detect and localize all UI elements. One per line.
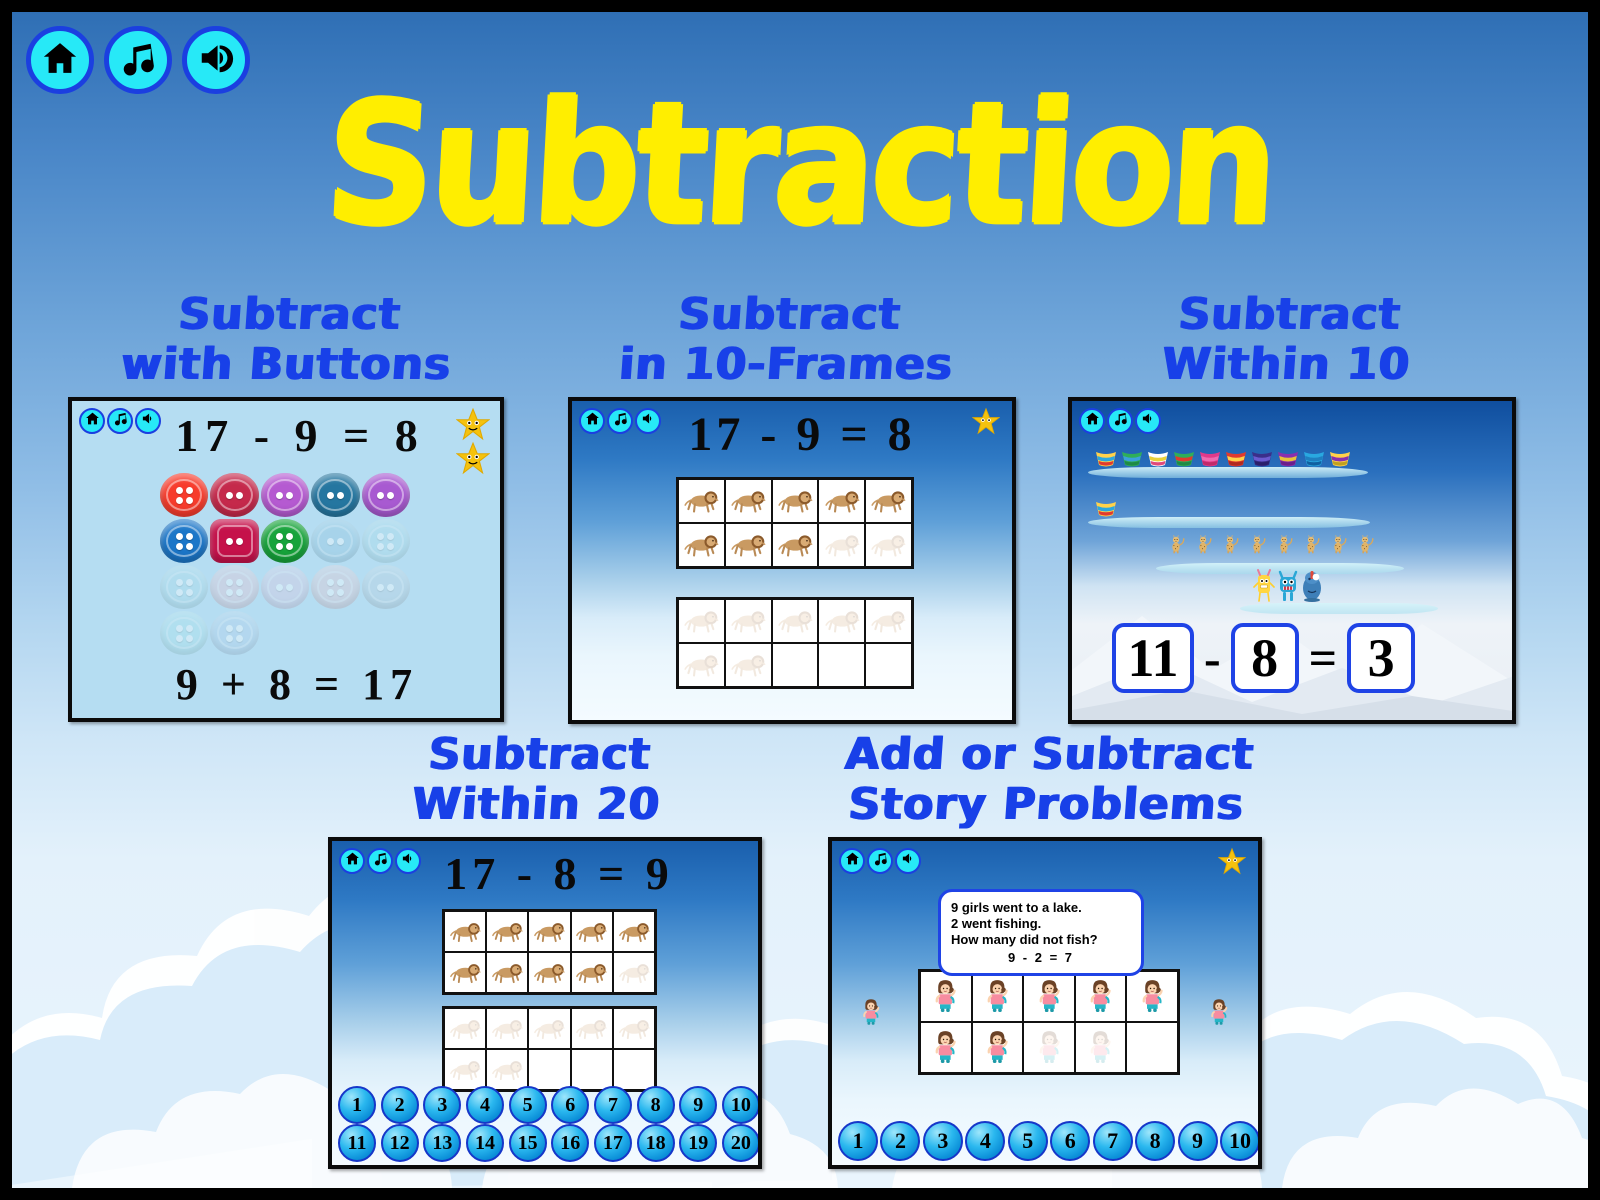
- sound-button[interactable]: [635, 408, 661, 434]
- ten-frame-cell[interactable]: [772, 523, 819, 567]
- ten-frame-cell[interactable]: [725, 523, 772, 567]
- side-character-left: [854, 986, 888, 1038]
- button-chip[interactable]: [160, 473, 208, 517]
- button-chip[interactable]: [160, 519, 208, 563]
- reward-star: [972, 407, 1000, 435]
- title-line-1: Subtract: [568, 290, 1011, 340]
- title-line-1: Add or Subtract: [808, 730, 1291, 780]
- shelf-item-cheetah[interactable]: [1326, 525, 1351, 563]
- home-button[interactable]: [339, 848, 365, 874]
- title-line-2: in 10-Frames: [565, 340, 1008, 390]
- shelf-item-basket[interactable]: [1198, 447, 1222, 467]
- ten-frame-cell[interactable]: [818, 599, 865, 643]
- number-token-17[interactable]: 17: [594, 1124, 632, 1162]
- shelf-item-basket[interactable]: [1120, 447, 1144, 467]
- button-chip[interactable]: [311, 565, 359, 609]
- story-equation: 9 - 2 = 7: [951, 950, 1131, 965]
- shelf-item-monster[interactable]: [1276, 569, 1300, 603]
- number-token-6[interactable]: 6: [1050, 1121, 1090, 1161]
- button-chip[interactable]: [160, 611, 208, 655]
- title-line-1: Subtract: [318, 730, 761, 780]
- ten-frame-cell[interactable]: [486, 1008, 528, 1049]
- sound-button[interactable]: [1135, 408, 1161, 434]
- title-line-1: Subtract: [68, 290, 511, 340]
- sound-button[interactable]: [895, 848, 921, 874]
- number-token-11[interactable]: 11: [338, 1124, 376, 1162]
- answer-box-minuend[interactable]: 11: [1112, 623, 1194, 693]
- home-button[interactable]: [26, 26, 94, 94]
- home-button[interactable]: [79, 408, 105, 434]
- ten-frame-cell[interactable]: [1075, 1022, 1127, 1073]
- ten-frame-cell[interactable]: [613, 911, 655, 952]
- button-chip: [261, 611, 309, 655]
- ten-frame-cell[interactable]: [613, 1008, 655, 1049]
- card-toolbar: [1079, 408, 1161, 434]
- card-subtract-within-10[interactable]: 11 - 8 = 3: [1068, 397, 1516, 724]
- reward-star: [456, 441, 490, 475]
- number-token-1[interactable]: 1: [838, 1121, 878, 1161]
- number-token-5[interactable]: 5: [1008, 1121, 1048, 1161]
- card-title-subtract-within-20: Subtract Within 20: [315, 730, 762, 830]
- sound-button[interactable]: [182, 26, 250, 94]
- button-chip: [362, 611, 410, 655]
- speaker-icon: [641, 411, 656, 431]
- card-title-subtract-within-10: Subtract Within 10: [1065, 290, 1512, 390]
- ten-frame-cell[interactable]: [571, 911, 613, 952]
- ten-frame-cell[interactable]: [571, 1008, 613, 1049]
- equation-bottom: 9 + 8 = 17: [72, 659, 500, 710]
- ten-frame-cell[interactable]: [865, 479, 912, 523]
- music-note-icon: [119, 39, 157, 82]
- ten-frame-cell[interactable]: [486, 1049, 528, 1090]
- button-chip[interactable]: [160, 565, 208, 609]
- card-toolbar: [579, 408, 661, 434]
- shelf-items-monsters[interactable]: [1252, 561, 1330, 603]
- shelf-item-cheetah[interactable]: [1218, 525, 1243, 563]
- number-token-16[interactable]: 16: [551, 1124, 589, 1162]
- shelf-items-baskets-top[interactable]: [1094, 443, 1366, 467]
- number-token-15[interactable]: 15: [509, 1124, 547, 1162]
- card-subtract-with-buttons[interactable]: 17 - 9 = 8 9 + 8 = 17: [68, 397, 504, 722]
- number-token-10[interactable]: 10: [722, 1086, 760, 1124]
- answer-box-result[interactable]: 3: [1347, 623, 1415, 693]
- shelf-item-basket[interactable]: [1172, 447, 1196, 467]
- ten-frame-cell[interactable]: [920, 971, 972, 1022]
- home-icon: [345, 851, 360, 871]
- ten-frame-cell[interactable]: [528, 1049, 570, 1090]
- ten-frame-cell[interactable]: [818, 523, 865, 567]
- number-token-2[interactable]: 2: [381, 1086, 419, 1124]
- page-title: Subtraction: [12, 81, 1588, 249]
- shelf-item-monster[interactable]: [1252, 569, 1276, 603]
- shelf: [1240, 603, 1438, 614]
- number-token-8[interactable]: 8: [637, 1086, 675, 1124]
- ten-frame-cell[interactable]: [678, 523, 725, 567]
- button-chip[interactable]: [311, 519, 359, 563]
- answer-equation[interactable]: 11 - 8 = 3: [1112, 623, 1415, 693]
- ten-frame-cell[interactable]: [571, 952, 613, 993]
- button-chip[interactable]: [261, 519, 309, 563]
- answer-box-subtrahend[interactable]: 8: [1231, 623, 1299, 693]
- ten-frame-cell[interactable]: [772, 643, 819, 687]
- home-icon: [85, 411, 100, 431]
- shelf-item-cheetah[interactable]: [1299, 525, 1324, 563]
- ten-frame-cell[interactable]: [486, 952, 528, 993]
- ten-frame-cell[interactable]: [725, 479, 772, 523]
- ten-frame-cell[interactable]: [678, 599, 725, 643]
- shelf-item-basket[interactable]: [1328, 447, 1352, 467]
- ten-frame-cell[interactable]: [444, 952, 486, 993]
- ten-frame-cell[interactable]: [920, 1022, 972, 1073]
- ten-frame-cell[interactable]: [772, 479, 819, 523]
- ten-frame-cell[interactable]: [613, 952, 655, 993]
- music-button[interactable]: [107, 408, 133, 434]
- number-token-4[interactable]: 4: [965, 1121, 1005, 1161]
- title-line-2: Within 20: [315, 780, 758, 830]
- number-token-8[interactable]: 8: [1135, 1121, 1175, 1161]
- home-button[interactable]: [839, 848, 865, 874]
- home-icon: [585, 411, 600, 431]
- number-token-19[interactable]: 19: [679, 1124, 717, 1162]
- button-chip[interactable]: [362, 519, 410, 563]
- music-button[interactable]: [607, 408, 633, 434]
- music-button[interactable]: [367, 848, 393, 874]
- home-icon: [845, 851, 860, 871]
- card-toolbar: [839, 848, 921, 874]
- number-token-18[interactable]: 18: [637, 1124, 675, 1162]
- story-line-1: 9 girls went to a lake.: [951, 900, 1131, 916]
- ten-frame-cell[interactable]: [772, 599, 819, 643]
- music-button[interactable]: [1107, 408, 1133, 434]
- shelf-item-cheetah[interactable]: [1245, 525, 1270, 563]
- speaker-icon: [141, 411, 156, 431]
- number-token-14[interactable]: 14: [466, 1124, 504, 1162]
- buttons-grid[interactable]: [160, 473, 410, 655]
- ten-frame-cell[interactable]: [1023, 1022, 1075, 1073]
- number-token-7[interactable]: 7: [594, 1086, 632, 1124]
- card-toolbar: [339, 848, 421, 874]
- reward-star: [1218, 847, 1246, 875]
- ten-frame-cell[interactable]: [571, 1049, 613, 1090]
- number-token-2[interactable]: 2: [880, 1121, 920, 1161]
- title-line-2: with Buttons: [65, 340, 508, 390]
- card-title-add-or-subtract-story-problems: Add or Subtract Story Problems: [805, 730, 1292, 830]
- home-icon: [1085, 411, 1100, 431]
- ten-frame-cell[interactable]: [528, 952, 570, 993]
- shelf-item-basket[interactable]: [1094, 497, 1118, 517]
- app-stage: Subtraction Subtract with Buttons 17 - 9…: [12, 12, 1588, 1188]
- sound-button[interactable]: [395, 848, 421, 874]
- button-chip[interactable]: [311, 473, 359, 517]
- music-note-icon: [613, 411, 628, 431]
- number-token-5[interactable]: 5: [509, 1086, 547, 1124]
- music-note-icon: [1113, 411, 1128, 431]
- number-token-7[interactable]: 7: [1093, 1121, 1133, 1161]
- number-token-1[interactable]: 1: [338, 1086, 376, 1124]
- card-toolbar: [79, 408, 161, 434]
- number-token-4[interactable]: 4: [466, 1086, 504, 1124]
- number-tokens-row-2[interactable]: 11121314151617181920: [336, 1124, 762, 1162]
- card-subtract-in-10-frames[interactable]: 17 - 9 = 8: [568, 397, 1016, 724]
- ten-frame-cell[interactable]: [818, 643, 865, 687]
- ten-frame-cell[interactable]: [725, 599, 772, 643]
- number-token-13[interactable]: 13: [423, 1124, 461, 1162]
- operator-minus: -: [1204, 629, 1221, 687]
- button-chip[interactable]: [261, 473, 309, 517]
- card-subtract-within-20[interactable]: 17 - 8 = 9: [328, 837, 762, 1169]
- shelf-item-cheetah[interactable]: [1191, 525, 1216, 563]
- title-line-1: Subtract: [1068, 290, 1511, 340]
- shelf-item-basket[interactable]: [1146, 447, 1170, 467]
- ten-frame-one[interactable]: [676, 477, 914, 569]
- ten-frame-cell[interactable]: [444, 1008, 486, 1049]
- music-button[interactable]: [104, 26, 172, 94]
- global-toolbar: [26, 26, 250, 94]
- shelf-item-basket[interactable]: [1094, 447, 1118, 467]
- music-note-icon: [113, 411, 128, 431]
- button-chip[interactable]: [362, 565, 410, 609]
- ten-frame-cell[interactable]: [678, 643, 725, 687]
- button-chip[interactable]: [210, 565, 258, 609]
- ten-frame-cell[interactable]: [1126, 1022, 1178, 1073]
- number-token-9[interactable]: 9: [1178, 1121, 1218, 1161]
- ten-frame-cell[interactable]: [486, 911, 528, 952]
- speaker-icon: [197, 39, 235, 82]
- speaker-icon: [901, 851, 916, 871]
- home-button[interactable]: [1079, 408, 1105, 434]
- speaker-icon: [401, 851, 416, 871]
- title-line-2: Within 10: [1065, 340, 1508, 390]
- music-note-icon: [873, 851, 888, 871]
- shelf-item-basket[interactable]: [1302, 447, 1326, 467]
- ten-frame-cell[interactable]: [865, 599, 912, 643]
- title-line-2: Story Problems: [805, 780, 1288, 830]
- shelf-item-basket[interactable]: [1224, 447, 1248, 467]
- ten-frame-cell[interactable]: [528, 1008, 570, 1049]
- number-token-3[interactable]: 3: [423, 1086, 461, 1124]
- button-chip[interactable]: [261, 565, 309, 609]
- ten-frame-cell[interactable]: [444, 1049, 486, 1090]
- ten-frame-cell[interactable]: [1075, 971, 1127, 1022]
- ten-frame-cell[interactable]: [613, 1049, 655, 1090]
- sound-button[interactable]: [135, 408, 161, 434]
- card-add-or-subtract-story-problems[interactable]: 9 girls went to a lake. 2 went fishing. …: [828, 837, 1262, 1169]
- reward-star: [456, 407, 490, 441]
- ten-frame-one[interactable]: [918, 969, 1180, 1075]
- button-chip[interactable]: [210, 611, 258, 655]
- side-character-right: [1202, 986, 1236, 1038]
- music-button[interactable]: [867, 848, 893, 874]
- home-icon: [41, 39, 79, 82]
- ten-frame-two[interactable]: [442, 1006, 657, 1092]
- music-note-icon: [373, 851, 388, 871]
- ten-frame-cell[interactable]: [725, 643, 772, 687]
- ten-frame-cell[interactable]: [678, 479, 725, 523]
- shelf-item-monster[interactable]: [1300, 569, 1324, 603]
- shelf-item-cheetah[interactable]: [1353, 525, 1378, 563]
- button-chip[interactable]: [362, 473, 410, 517]
- ten-frame-cell[interactable]: [865, 523, 912, 567]
- ten-frame-cell[interactable]: [444, 911, 486, 952]
- number-token-12[interactable]: 12: [381, 1124, 419, 1162]
- button-chip[interactable]: [210, 473, 258, 517]
- ten-frame-cell[interactable]: [528, 911, 570, 952]
- button-chip: [311, 611, 359, 655]
- number-tokens-row-1[interactable]: 12345678910: [336, 1086, 762, 1124]
- ten-frame-cell[interactable]: [972, 971, 1024, 1022]
- ten-frame-one[interactable]: [442, 909, 657, 995]
- card-title-subtract-in-10-frames: Subtract in 10-Frames: [565, 290, 1012, 390]
- number-token-20[interactable]: 20: [722, 1124, 760, 1162]
- ten-frame-cell[interactable]: [1023, 971, 1075, 1022]
- ten-frame-cell[interactable]: [1126, 971, 1178, 1022]
- shelf-item-cheetah[interactable]: [1272, 525, 1297, 563]
- number-tokens-row-1[interactable]: 12345678910: [836, 1121, 1262, 1161]
- story-line-3: How many did not fish?: [951, 932, 1131, 948]
- number-token-9[interactable]: 9: [679, 1086, 717, 1124]
- shelf-item-basket[interactable]: [1250, 447, 1274, 467]
- ten-frame-two[interactable]: [676, 597, 914, 689]
- story-line-2: 2 went fishing.: [951, 916, 1131, 932]
- shelf: [1088, 467, 1368, 478]
- speaker-icon: [1141, 411, 1156, 431]
- shelf-items-baskets-second[interactable]: [1094, 493, 1124, 517]
- number-token-3[interactable]: 3: [923, 1121, 963, 1161]
- ten-frame-cell[interactable]: [818, 479, 865, 523]
- number-token-10[interactable]: 10: [1220, 1121, 1260, 1161]
- shelf-items-cheetahs[interactable]: [1164, 523, 1372, 563]
- ten-frame-cell[interactable]: [972, 1022, 1024, 1073]
- operator-equals: =: [1309, 629, 1338, 687]
- card-title-subtract-with-buttons: Subtract with Buttons: [65, 290, 512, 390]
- number-token-6[interactable]: 6: [551, 1086, 589, 1124]
- home-button[interactable]: [579, 408, 605, 434]
- button-chip[interactable]: [210, 519, 258, 563]
- ten-frame-cell[interactable]: [865, 643, 912, 687]
- story-problem-box: 9 girls went to a lake. 2 went fishing. …: [938, 889, 1144, 976]
- shelf-item-cheetah[interactable]: [1164, 525, 1189, 563]
- shelf-item-basket[interactable]: [1276, 447, 1300, 467]
